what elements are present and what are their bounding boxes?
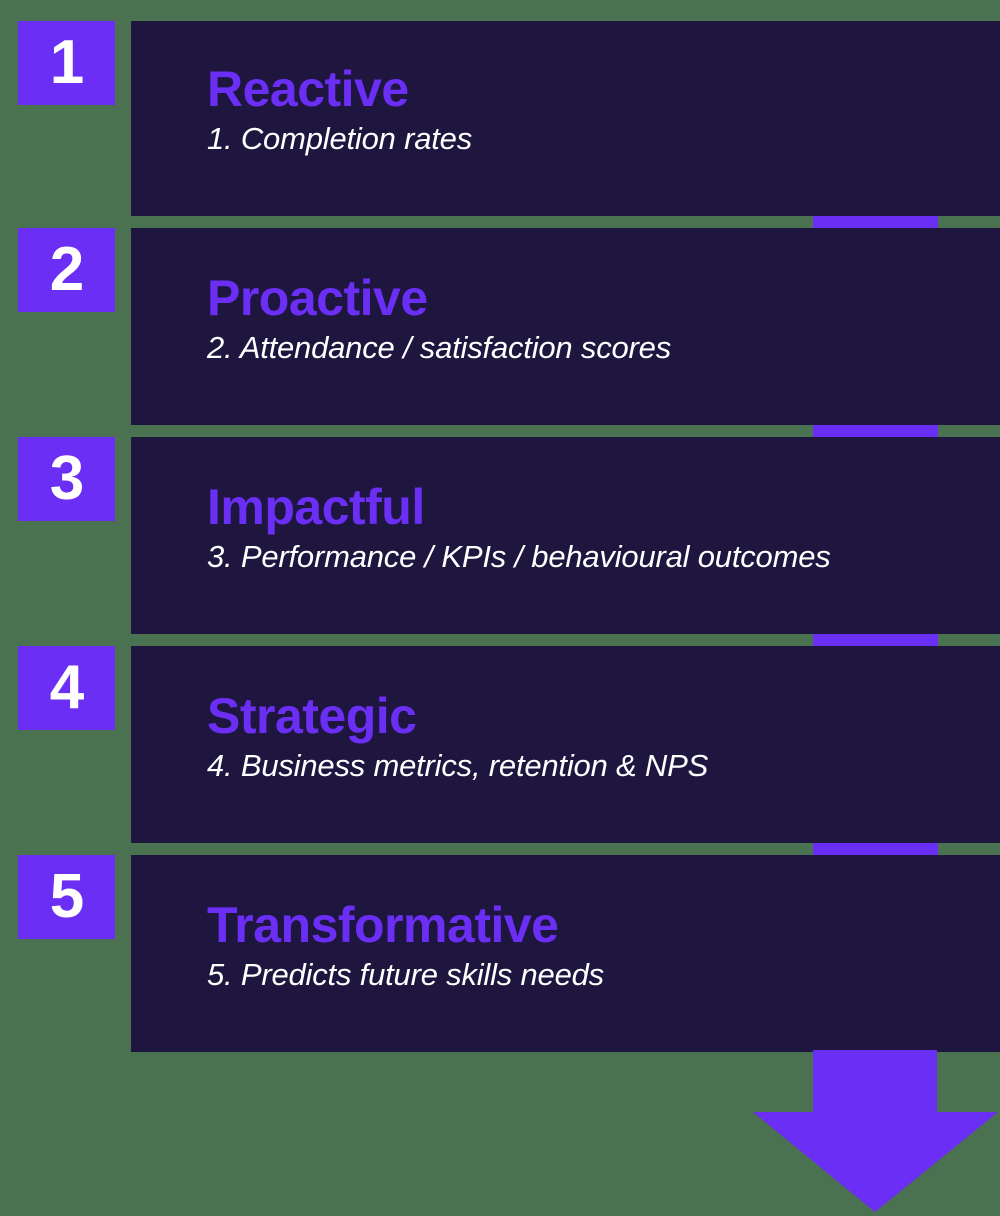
stage-connector-3 [813,634,938,646]
stage-number-badge-3: 3 [18,437,115,521]
stage-number-4: 4 [50,657,83,719]
stage-subtitle-2: 2. Attendance / satisfaction scores [207,330,990,366]
stage-subtitle-5: 5. Predicts future skills needs [207,957,990,993]
stage-number-5: 5 [50,866,83,928]
stage-panel-5[interactable]: Transformative 5. Predicts future skills… [131,855,1000,1052]
stage-panel-3[interactable]: Impactful 3. Performance / KPIs / behavi… [131,437,1000,634]
stage-number-3: 3 [50,448,83,510]
stage-title-3: Impactful [207,482,990,533]
stage-number-2: 2 [50,239,83,301]
arrow-down-icon [745,1050,1000,1216]
stage-connector-4 [813,843,938,855]
stage-title-4: Strategic [207,691,990,742]
stage-panel-1[interactable]: Reactive 1. Completion rates [131,21,1000,216]
stage-title-5: Transformative [207,900,990,951]
stage-subtitle-3: 3. Performance / KPIs / behavioural outc… [207,539,990,575]
stage-number-1: 1 [50,32,83,94]
stage-number-badge-2: 2 [18,228,115,312]
stage-number-badge-1: 1 [18,21,115,105]
stage-connector-2 [813,425,938,437]
stage-connector-1 [813,216,938,228]
stage-number-badge-5: 5 [18,855,115,939]
stage-number-badge-4: 4 [18,646,115,730]
stage-subtitle-1: 1. Completion rates [207,121,990,157]
stage-title-2: Proactive [207,273,990,324]
stage-panel-4[interactable]: Strategic 4. Business metrics, retention… [131,646,1000,843]
stage-panel-2[interactable]: Proactive 2. Attendance / satisfaction s… [131,228,1000,425]
stage-subtitle-4: 4. Business metrics, retention & NPS [207,748,990,784]
stage-title-1: Reactive [207,64,990,115]
maturity-ladder-infographic: 1 Reactive 1. Completion rates 2 Proacti… [0,0,1000,1216]
